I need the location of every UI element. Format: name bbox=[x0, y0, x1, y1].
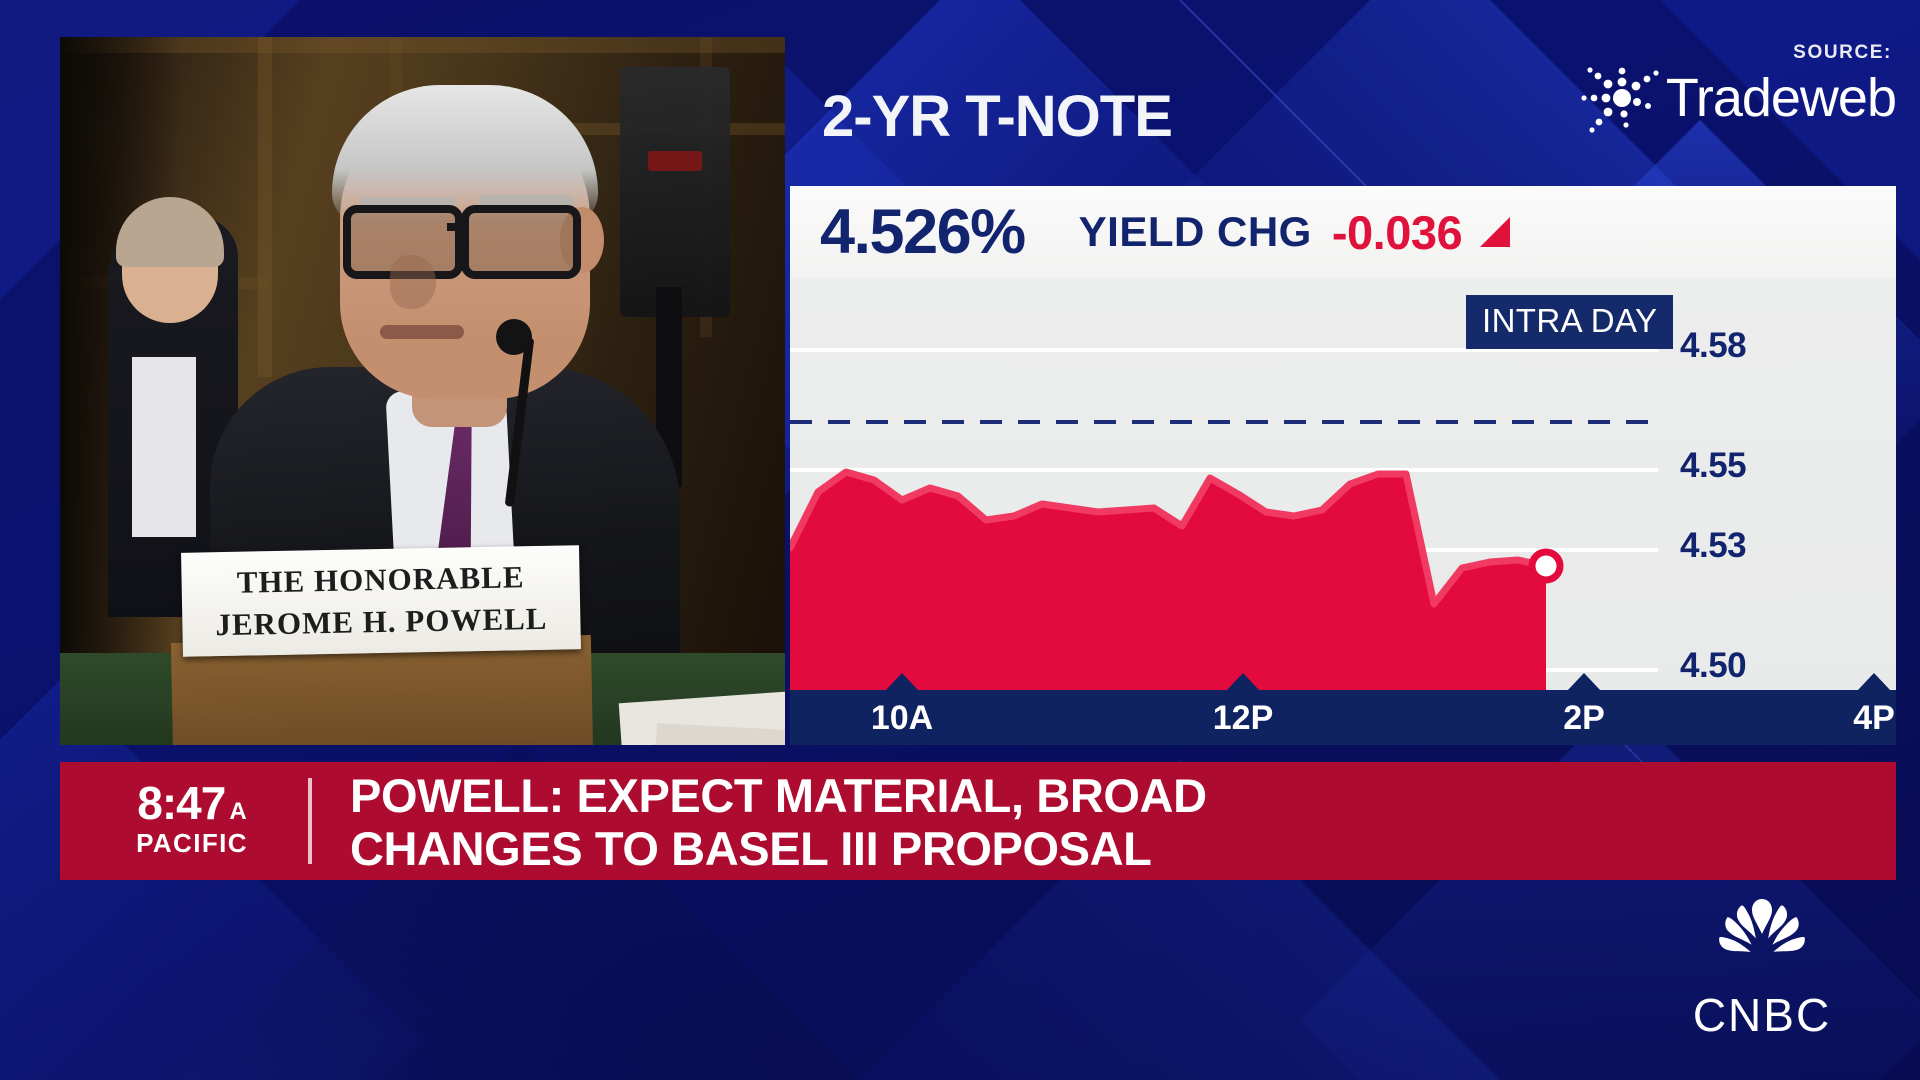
eyeglasses-icon bbox=[343, 205, 591, 265]
source-provider: Tradeweb bbox=[1666, 71, 1896, 125]
peacock-icon bbox=[1699, 893, 1825, 985]
yield-change-label: YIELD CHG bbox=[1079, 208, 1312, 256]
headline-line2: CHANGES TO BASEL III PROPOSAL bbox=[350, 823, 1207, 876]
x-axis-notch bbox=[1567, 673, 1601, 691]
clock-time: 8:47 bbox=[137, 777, 225, 829]
yield-value: 4.526% bbox=[820, 196, 1025, 268]
yield-change-value: -0.036 bbox=[1332, 205, 1462, 260]
broadcast-screen: THE HONORABLE JEROME H. POWELL 2-YR T-NO… bbox=[0, 0, 1920, 1080]
chart-x-axis: 10A12P2P4P bbox=[790, 690, 1896, 745]
y-axis-tick: 4.58 bbox=[1680, 326, 1746, 366]
x-axis-notch bbox=[1857, 673, 1891, 691]
x-axis-notch bbox=[1226, 673, 1260, 691]
quote-bar: 4.526% YIELD CHG -0.036 bbox=[790, 186, 1896, 278]
x-axis-notch bbox=[885, 673, 919, 691]
source-attribution: SOURCE: Tradeweb bbox=[1578, 42, 1896, 134]
range-badge: INTRA DAY bbox=[1466, 295, 1673, 349]
source-label: SOURCE: bbox=[1578, 42, 1892, 64]
nameplate: THE HONORABLE JEROME H. POWELL bbox=[181, 545, 581, 657]
banner-divider bbox=[308, 778, 312, 864]
tradeweb-burst-icon bbox=[1578, 62, 1666, 134]
x-axis-tick: 10A bbox=[871, 699, 933, 738]
video-feed: THE HONORABLE JEROME H. POWELL bbox=[60, 37, 785, 745]
y-axis-tick: 4.53 bbox=[1680, 526, 1746, 566]
instrument-title: 2-YR T-NOTE bbox=[822, 83, 1172, 150]
y-axis-tick: 4.55 bbox=[1680, 446, 1746, 486]
y-axis-tick: 4.50 bbox=[1680, 646, 1746, 686]
network-wordmark: CNBC bbox=[1664, 992, 1860, 1038]
intraday-chart: 4.584.554.534.50 INTRA DAY 10A12P2P4P bbox=[790, 278, 1896, 745]
headline-line1: POWELL: EXPECT MATERIAL, BROAD bbox=[350, 770, 1207, 823]
lower-third-banner: 8:47A PACIFIC POWELL: EXPECT MATERIAL, B… bbox=[60, 762, 1896, 880]
timestamp-block: 8:47A PACIFIC bbox=[86, 776, 298, 859]
down-triangle-icon bbox=[1480, 217, 1510, 247]
microphone-icon bbox=[496, 319, 532, 355]
nameplate-line2: JEROME H. POWELL bbox=[182, 600, 581, 644]
camera-equipment bbox=[620, 67, 730, 317]
clock-timezone: PACIFIC bbox=[86, 828, 298, 859]
headline: POWELL: EXPECT MATERIAL, BROAD CHANGES T… bbox=[350, 770, 1207, 875]
x-axis-tick: 4P bbox=[1853, 699, 1895, 738]
network-logo: CNBC bbox=[1664, 893, 1860, 1038]
x-axis-tick: 12P bbox=[1213, 699, 1274, 738]
nameplate-line1: THE HONORABLE bbox=[181, 558, 580, 602]
x-axis-tick: 2P bbox=[1563, 699, 1605, 738]
clock-meridiem: A bbox=[229, 798, 246, 825]
